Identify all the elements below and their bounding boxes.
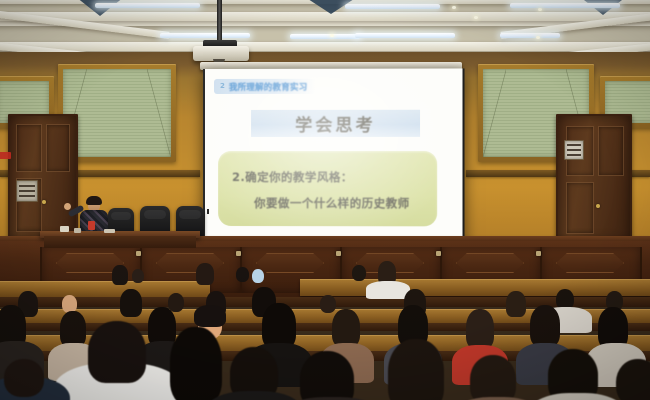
desk-item [74, 228, 81, 233]
desk-item [104, 229, 115, 233]
foreground-student-head [4, 359, 44, 397]
speaker-hair [86, 196, 102, 205]
audience-head [196, 263, 214, 285]
foreground-student-head [300, 351, 354, 400]
exit-sign [0, 152, 11, 159]
foreground-student-head [470, 355, 516, 400]
foreground-student-head [616, 359, 650, 400]
acoustic-panel-surface [63, 69, 171, 157]
door-panel [46, 124, 70, 172]
student-audience [0, 255, 650, 400]
presentation-slide: 2 我所理解的教育实习 学会思考 2.确定你的教学风格： 你要做一个什么样的历史… [205, 68, 463, 246]
slide-body-line-2: 你要做一个什么样的历史教师 [254, 195, 410, 211]
side-door-right[interactable] [556, 114, 632, 244]
audience-head [466, 309, 494, 349]
ceiling-spotlight [538, 8, 542, 11]
screen-edge-mark [207, 209, 209, 214]
fluorescent-tube [510, 3, 620, 8]
audience-head [530, 305, 560, 347]
slide-header-chip: 2 我所理解的教育实习 [214, 79, 315, 94]
fluorescent-tube [160, 33, 250, 38]
audience-head [332, 309, 360, 347]
audience-head [252, 269, 264, 283]
audience-head [320, 295, 336, 313]
door-vent-left [16, 180, 38, 202]
audience-head [120, 289, 142, 317]
foreground-student-head [170, 327, 222, 400]
audience-head [112, 265, 128, 285]
door-vent-right [564, 140, 584, 160]
speaker-badge [88, 221, 95, 230]
foreground-student-body [528, 393, 626, 400]
foreground-student-head [88, 321, 146, 383]
foreground-student-body [206, 391, 302, 400]
door-knob[interactable] [596, 204, 600, 208]
audience-head [352, 265, 366, 281]
slide-header-number: 2 [220, 83, 225, 90]
slide-title-band: 学会思考 [251, 110, 420, 137]
side-door-left[interactable] [8, 114, 78, 242]
door-panel [598, 126, 624, 176]
slide-title: 学会思考 [295, 111, 375, 136]
foreground-student-head [388, 339, 444, 400]
presenter-table-front [44, 236, 196, 248]
auditorium-bench [300, 279, 650, 296]
fluorescent-tube [345, 4, 440, 9]
door-panel [16, 124, 42, 172]
fluorescent-tube [95, 3, 200, 8]
desk-item [60, 226, 69, 232]
slide-body-box: 2.确定你的教学风格： 你要做一个什么样的历史教师 [218, 151, 437, 226]
coffered-ceiling [0, 0, 650, 58]
ceiling-spotlight [474, 16, 478, 19]
ceiling-spotlight [536, 36, 540, 39]
fluorescent-tube [290, 34, 360, 39]
fluorescent-tube [500, 33, 560, 38]
door-knob[interactable] [42, 200, 46, 204]
door-panel [566, 182, 594, 234]
audience-head [60, 311, 86, 347]
audience-head [236, 267, 249, 282]
ceiling-spotlight [452, 6, 456, 9]
audience-body [366, 281, 410, 299]
slide-body-line-1: 2.确定你的教学风格： [232, 169, 353, 185]
projection-screen: 2 我所理解的教育实习 学会思考 2.确定你的教学风格： 你要做一个什么样的历史… [203, 68, 465, 247]
ceiling-spotlight [330, 34, 334, 37]
slide-header-text: 我所理解的教育实习 [229, 80, 308, 92]
speaker-hand [64, 203, 71, 210]
lecture-hall-scene: 2 我所理解的教育实习 学会思考 2.确定你的教学风格： 你要做一个什么样的历史… [0, 0, 650, 400]
audience-hair [194, 305, 226, 327]
audience-head [506, 291, 526, 317]
audience-head [132, 269, 144, 283]
ceiling-beam [0, 42, 650, 51]
projector-mount-rod [217, 0, 222, 44]
fluorescent-tube [355, 33, 455, 38]
